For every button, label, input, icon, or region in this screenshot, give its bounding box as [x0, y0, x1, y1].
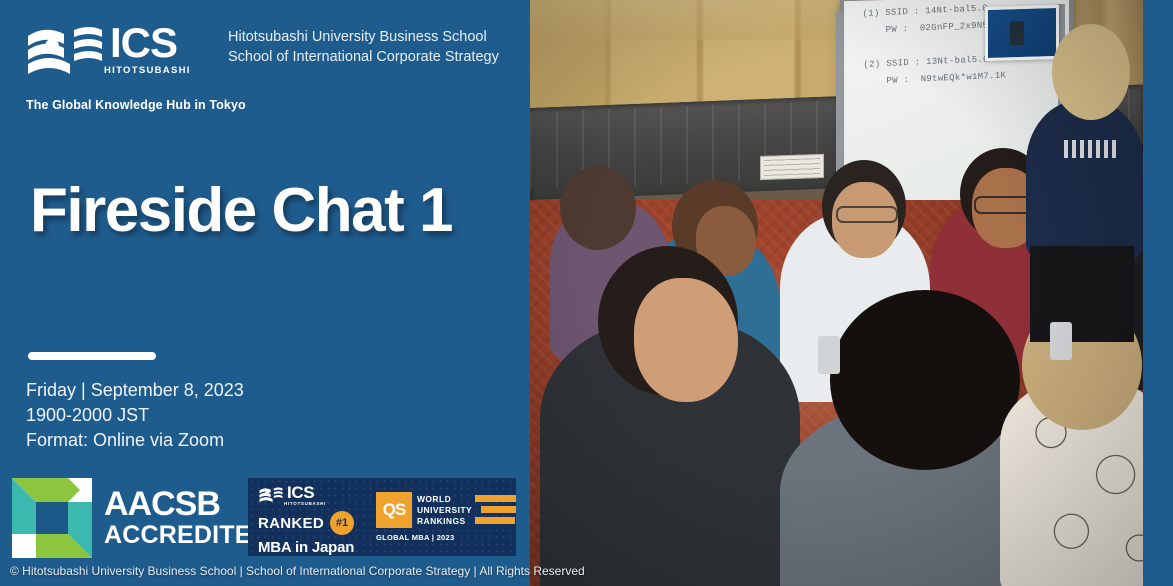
event-date: Friday | September 8, 2023 — [26, 378, 244, 403]
divider — [28, 352, 156, 360]
mba-label: MBA in Japan — [258, 539, 376, 556]
rank-number-badge: #1 — [330, 511, 354, 535]
qs-bar — [475, 517, 515, 524]
qs-bar — [481, 506, 516, 513]
brand-logo: ICS HITOTSUBASHI — [26, 22, 191, 80]
qs-logo: QS — [376, 492, 412, 528]
qs-line-university: UNIVERSITY — [417, 505, 516, 515]
ranked-row: RANKED #1 — [258, 511, 376, 535]
event-details: Friday | September 8, 2023 1900-2000 JST… — [26, 378, 244, 453]
copyright-notice: © Hitotsubashi University Business Schoo… — [10, 564, 585, 578]
organization-line-2: School of International Corporate Strate… — [228, 47, 499, 67]
ics-wordmark: ICS — [110, 22, 191, 64]
photo-vignette — [530, 0, 1143, 586]
qs-bar — [475, 495, 516, 502]
event-time: 1900-2000 JST — [26, 403, 244, 428]
qs-footer-label: GLOBAL MBA | 2023 — [376, 533, 516, 542]
aacsb-label-line-2: ACCREDITED — [104, 521, 270, 549]
ranking-badge: ICS HITOTSUBASHI RANKED #1 MBA in Japan … — [248, 478, 516, 556]
qs-university-label: UNIVERSITY — [417, 505, 475, 515]
ics-flag-mark-icon — [26, 22, 104, 80]
ranked-label: RANKED — [258, 515, 324, 532]
ranking-ics-wordmark: ICS — [287, 484, 326, 501]
ics-flag-mark-icon — [258, 486, 284, 504]
ranking-ics-sub: HITOTSUBASHI — [284, 501, 326, 506]
organization-name: Hitotsubashi University Business School … — [228, 27, 499, 67]
qs-rankings-badge: QS WORLD UNIVERSITY RANKINGS — [376, 492, 516, 542]
presentation-slide: (1) SSID : 14Nt-bal5.0 PW : 02GnFP_2x9N5… — [0, 0, 1173, 586]
event-format: Format: Online via Zoom — [26, 428, 244, 453]
ranking-ics-logo: ICS HITOTSUBASHI — [258, 484, 376, 506]
qs-line-rankings: RANKINGS — [417, 516, 516, 526]
qs-rankings-label: RANKINGS — [417, 516, 475, 526]
organization-line-1: Hitotsubashi University Business School — [228, 27, 499, 47]
aacsb-accreditation-badge: AACSB ACCREDITED — [12, 478, 270, 558]
event-photo: (1) SSID : 14Nt-bal5.0 PW : 02GnFP_2x9N5… — [530, 0, 1143, 586]
ics-sub-wordmark: HITOTSUBASHI — [104, 65, 191, 76]
aacsb-square-mark-icon — [12, 478, 92, 558]
qs-world-label: WORLD — [417, 494, 475, 504]
left-panel: ICS HITOTSUBASHI Hitotsubashi University… — [0, 0, 530, 586]
qs-line-world: WORLD — [417, 494, 516, 504]
brand-tagline: The Global Knowledge Hub in Tokyo — [26, 98, 246, 112]
page-title: Fireside Chat 1 — [30, 172, 452, 250]
ranking-badge-left: ICS HITOTSUBASHI RANKED #1 MBA in Japan — [258, 484, 376, 556]
aacsb-label-line-1: AACSB — [104, 487, 270, 521]
